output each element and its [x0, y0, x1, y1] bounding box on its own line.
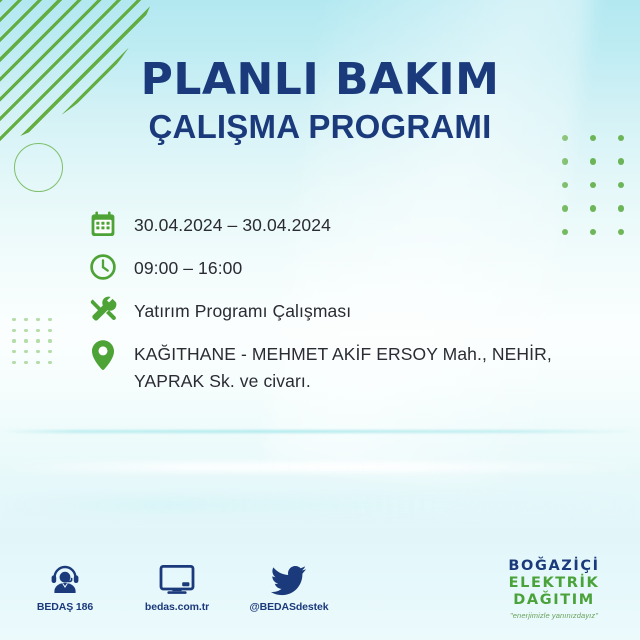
- work-type-value: Yatırım Programı Çalışması: [134, 293, 351, 325]
- planned-maintenance-poster: PLANLI BAKIM ÇALIŞMA PROGRAMI: [0, 0, 640, 640]
- detail-row-work-type: Yatırım Programı Çalışması: [86, 293, 616, 327]
- circle-outline-decoration: [14, 143, 63, 192]
- tools-icon: [86, 293, 120, 327]
- wave-band-lower-decoration: [0, 497, 640, 513]
- twitter-bird-icon: [248, 560, 330, 596]
- calendar-icon: [86, 207, 120, 241]
- page-title: PLANLI BAKIM: [0, 58, 640, 103]
- detail-row-location: KAĞITHANE - MEHMET AKİF ERSOY Mah., NEHİ…: [86, 336, 616, 394]
- wave-band-decoration: [0, 462, 640, 472]
- address-value: KAĞITHANE - MEHMET AKİF ERSOY Mah., NEHİ…: [134, 336, 604, 394]
- time-range-value: 09:00 – 16:00: [134, 250, 242, 282]
- support-agent-icon: [24, 560, 106, 596]
- poster-header: PLANLI BAKIM ÇALIŞMA PROGRAMI: [0, 58, 640, 146]
- detail-row-time: 09:00 – 16:00: [86, 250, 616, 284]
- logo-tagline: "enerjimizle yanınızdayız": [484, 611, 624, 620]
- page-subtitle: ÇALIŞMA PROGRAMI: [0, 107, 640, 147]
- detail-row-date: 30.04.2024 – 30.04.2024: [86, 207, 616, 241]
- clock-icon: [86, 250, 120, 284]
- dot-grid-left-decoration: [8, 314, 56, 368]
- bedas-logo: BOĞAZİÇİ ELEKTRİK DAĞITIM "enerjimizle y…: [484, 558, 624, 620]
- monitor-icon: [136, 560, 218, 596]
- contact-label-twitter: @BEDASdestek: [248, 601, 330, 613]
- contact-item-call-center[interactable]: BEDAŞ 186: [24, 560, 106, 613]
- wave-line-decoration: [0, 430, 640, 433]
- contact-item-twitter[interactable]: @BEDASdestek: [248, 560, 330, 613]
- contact-label-call-center: BEDAŞ 186: [24, 601, 106, 613]
- contact-label-website: bedas.com.tr: [136, 601, 218, 613]
- location-pin-icon: [86, 336, 120, 372]
- date-range-value: 30.04.2024 – 30.04.2024: [134, 207, 331, 239]
- footer-contact-bar: BEDAŞ 186 bedas.com.tr @BEDASdestek: [24, 560, 330, 613]
- logo-line-dagitim: DAĞITIM: [484, 592, 624, 609]
- maintenance-details: 30.04.2024 – 30.04.2024 09:00 – 16:00: [86, 207, 616, 403]
- logo-line-elektrik: ELEKTRİK: [484, 575, 624, 592]
- contact-item-website[interactable]: bedas.com.tr: [136, 560, 218, 613]
- logo-line-bogazici: BOĞAZİÇİ: [484, 558, 624, 575]
